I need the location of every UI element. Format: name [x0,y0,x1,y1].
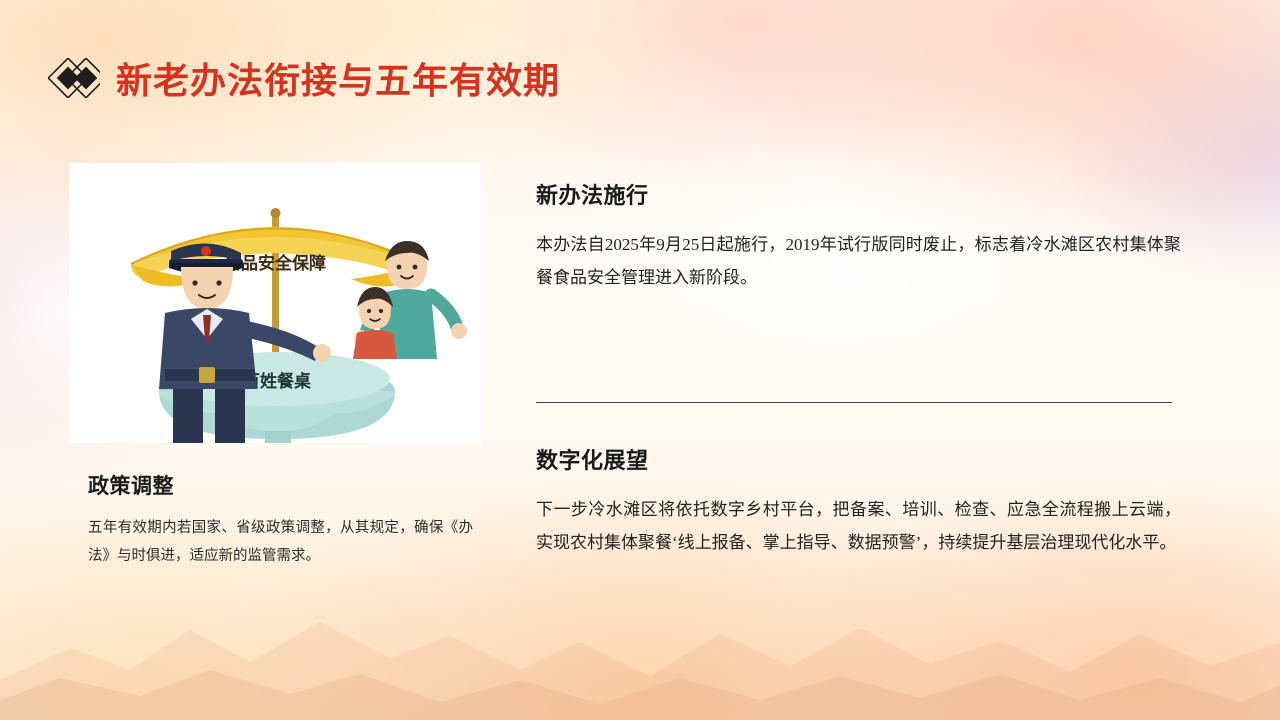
section-divider [536,402,1172,403]
slide-title-row: 新老办法衔接与五年有效期 [48,52,560,104]
food-safety-banquet-illustration: 食品安全保障 百姓餐桌 [69,163,481,443]
left-block-body: 五年有效期内若国家、省级政策调整，从其规定，确保《办法》与时俱进，适应新的监管需… [88,514,473,571]
right-block-2-heading: 数字化展望 [536,443,1181,475]
right-text-block-2: 数字化展望 下一步冷水滩区将依托数字乡村平台，把备案、培训、检查、应急全流程搬上… [536,443,1181,559]
double-diamond-icon [48,58,100,98]
page-title: 新老办法衔接与五年有效期 [116,52,560,104]
right-block-1-heading: 新办法施行 [536,178,1181,210]
left-block-heading: 政策调整 [88,470,488,500]
right-block-2-body: 下一步冷水滩区将依托数字乡村平台，把备案、培训、检查、应急全流程搬上云端，实现农… [536,493,1181,559]
right-text-block-1: 新办法施行 本办法自2025年9月25日起施行，2019年试行版同时废止，标志着… [536,178,1181,294]
right-block-1-body: 本办法自2025年9月25日起施行，2019年试行版同时废止，标志着冷水滩区农村… [536,228,1181,294]
left-text-block: 政策调整 五年有效期内若国家、省级政策调整，从其规定，确保《办法》与时俱进，适应… [88,470,488,571]
